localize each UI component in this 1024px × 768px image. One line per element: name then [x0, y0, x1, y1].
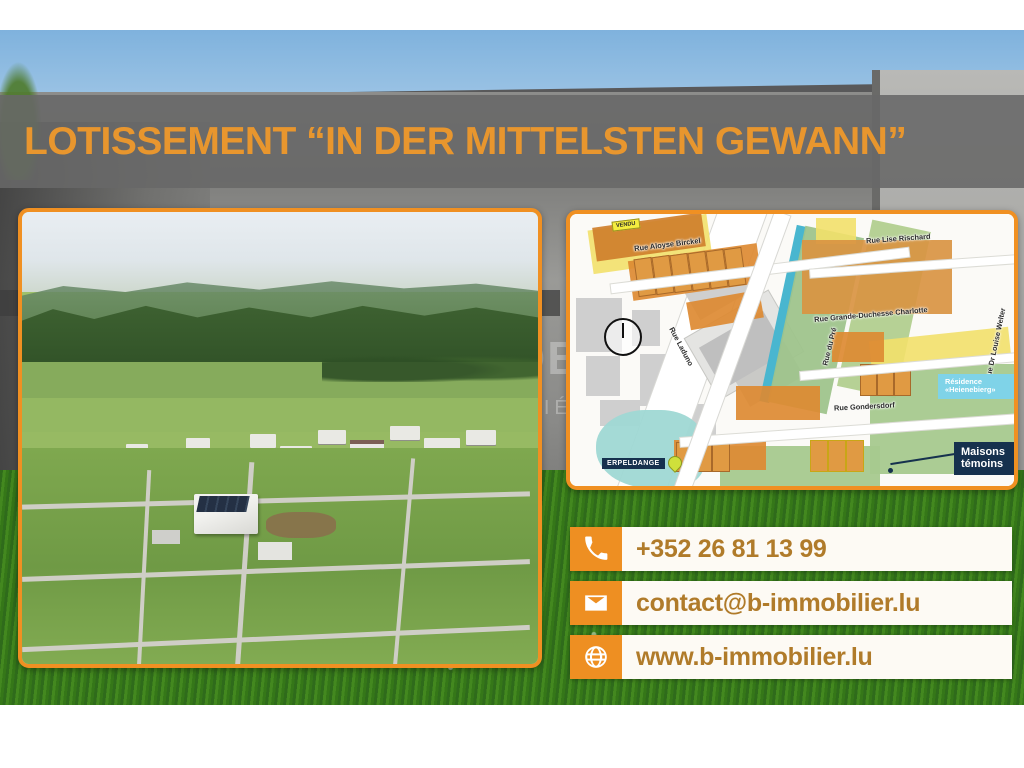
map-building-block [586, 356, 620, 396]
email-value: contact@b-immobilier.lu [622, 581, 1012, 625]
contact-row-phone[interactable]: +352 26 81 13 99 [570, 527, 1012, 571]
page-title: LOTISSEMENT “IN DER MITTELSTEN GEWANN” [0, 120, 906, 164]
compass-north-icon [604, 318, 642, 356]
map-lot[interactable] [828, 440, 846, 472]
site-shed [152, 530, 180, 544]
map-lot-group[interactable] [736, 386, 820, 420]
letterbox-top [0, 0, 1024, 30]
map-lot[interactable] [712, 442, 730, 472]
aerial-photo [22, 212, 538, 664]
callout-maisons-temoins: Maisons témoins [954, 442, 1014, 475]
place-marker-erpeldange: ERPELDANGE [602, 456, 682, 470]
house [250, 434, 276, 448]
letterbox-bottom [0, 705, 1024, 768]
site-shed [258, 542, 292, 560]
phone-icon [570, 527, 622, 571]
site-map[interactable]: VENDU Rue Aloyse Birckel Rue Lise Rischa… [570, 214, 1014, 486]
photo-treeline [322, 352, 538, 382]
house [390, 426, 420, 440]
place-label: ERPELDANGE [602, 458, 665, 469]
map-lot-group[interactable] [832, 332, 884, 362]
site-map-panel[interactable]: VENDU Rue Aloyse Birckel Rue Lise Rischa… [566, 210, 1018, 490]
solar-panels [196, 496, 249, 512]
callout-residence-heienebierg: Résidence «Heienebierg» [938, 374, 1014, 399]
map-lot[interactable] [846, 440, 864, 472]
globe-icon [570, 635, 622, 679]
roof [350, 440, 384, 444]
construction-dirt [266, 512, 336, 538]
phone-value: +352 26 81 13 99 [622, 527, 1012, 571]
website-value: www.b-immobilier.lu [622, 635, 1012, 679]
contact-list: +352 26 81 13 99 contact@b-immobilier.lu… [570, 527, 1012, 679]
mail-icon [570, 581, 622, 625]
title-bar: LOTISSEMENT “IN DER MITTELSTEN GEWANN” [0, 95, 1024, 188]
aerial-photo-panel [18, 208, 542, 668]
house [318, 430, 346, 444]
photo-sky [22, 212, 538, 292]
contact-row-website[interactable]: www.b-immobilier.lu [570, 635, 1012, 679]
house [466, 430, 496, 445]
callout-anchor-dot [888, 468, 893, 473]
map-pin-icon [665, 453, 685, 473]
map-lot[interactable] [810, 440, 828, 472]
advertisement-poster: LOTISSEMENT “IN DER MITTELSTEN GEWANN” B… [0, 0, 1024, 768]
contact-row-email[interactable]: contact@b-immobilier.lu [570, 581, 1012, 625]
